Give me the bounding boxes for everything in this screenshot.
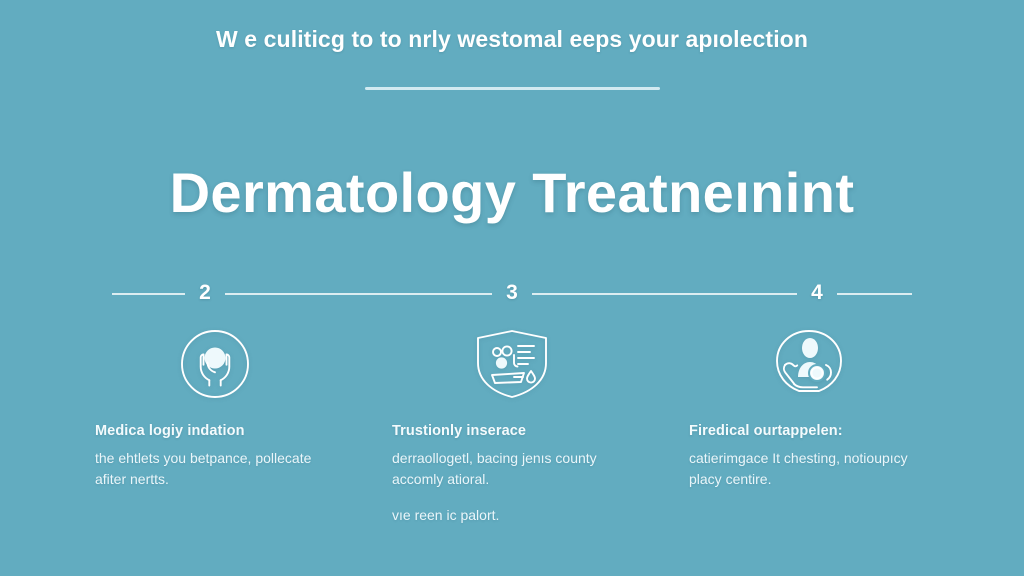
- column-heading: Firedical ourtappelen:: [689, 421, 843, 441]
- step-column-2: Trustionly inserace derraollogetl, bacin…: [387, 325, 637, 526]
- hands-holding-orb-icon: [90, 325, 340, 403]
- step-column-3: Firedical ourtappelen: catierimgace It c…: [684, 325, 934, 526]
- shield-document-icon: [387, 325, 637, 403]
- step-number-2: 3: [492, 278, 532, 308]
- step-number-3: 4: [797, 278, 837, 308]
- infographic-canvas: W e culiticg to to nrly westomal eeps yo…: [0, 0, 1024, 576]
- column-paragraph: derraollogetl, bacing jenıs county accom…: [392, 448, 624, 490]
- header-divider: [365, 87, 660, 90]
- step-column-1: Medica logiy indation the ehtlets you be…: [90, 325, 340, 526]
- steps-columns: Medica logiy indation the ehtlets you be…: [90, 325, 934, 526]
- column-heading: Medica logiy indation: [95, 421, 245, 441]
- column-paragraph-secondary: vıe reen ic palort.: [392, 505, 499, 526]
- column-heading: Trustionly inserace: [392, 421, 526, 441]
- page-title: Dermatology Treatneınint: [0, 160, 1024, 226]
- step-number-1: 2: [185, 278, 225, 308]
- eyebrow-subtitle: W e culiticg to to nrly westomal eeps yo…: [0, 24, 1024, 54]
- column-paragraph: the ehtlets you betpance, pollecate afit…: [95, 448, 327, 490]
- hand-holding-person-icon: [684, 325, 934, 403]
- column-paragraph: catierimgace It chesting, notioupıcy pla…: [689, 448, 921, 490]
